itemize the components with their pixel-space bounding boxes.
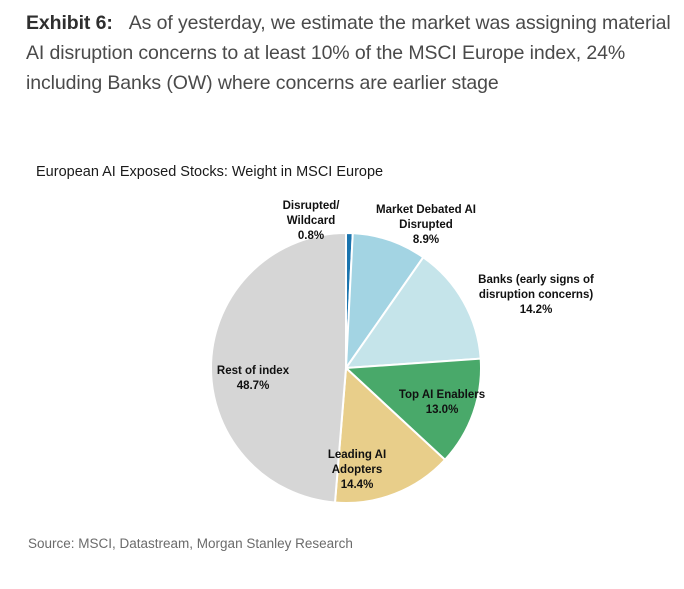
pie-label-market-debated: Market Debated AI Disrupted 8.9% bbox=[356, 188, 496, 263]
exhibit-number: Exhibit 6: bbox=[26, 12, 113, 34]
pie-label-top-ai-enablers-value: 13.0% bbox=[377, 403, 507, 418]
pie-label-leading-adopters: Leading AI Adopters 14.4% bbox=[297, 433, 417, 508]
exhibit-header: Exhibit 6:As of yesterday, we estimate t… bbox=[26, 8, 674, 98]
pie-label-top-ai-enablers: Top AI Enablers 13.0% bbox=[377, 373, 507, 433]
pie-label-rest-of-index: Rest of index 48.7% bbox=[183, 349, 323, 409]
pie-label-banks-name: Banks (early signs of disruption concern… bbox=[478, 274, 594, 301]
pie-label-disrupted-wildcard-name: Disrupted/ Wildcard bbox=[283, 200, 340, 227]
pie-label-top-ai-enablers-name: Top AI Enablers bbox=[399, 389, 485, 401]
pie-label-leading-adopters-name: Leading AI Adopters bbox=[328, 449, 386, 476]
pie-label-market-debated-name: Market Debated AI Disrupted bbox=[376, 204, 476, 231]
pie-label-disrupted-wildcard-value: 0.8% bbox=[255, 229, 367, 244]
source-line: Source: MSCI, Datastream, Morgan Stanley… bbox=[28, 536, 353, 551]
pie-label-rest-of-index-name: Rest of index bbox=[217, 365, 289, 377]
pie-label-banks-value: 14.2% bbox=[452, 303, 620, 318]
pie-label-banks: Banks (early signs of disruption concern… bbox=[452, 258, 620, 333]
exhibit-headline: As of yesterday, we estimate the market … bbox=[26, 12, 671, 94]
pie-label-rest-of-index-value: 48.7% bbox=[183, 379, 323, 394]
pie-label-leading-adopters-value: 14.4% bbox=[297, 478, 417, 493]
pie-label-disrupted-wildcard: Disrupted/ Wildcard 0.8% bbox=[255, 184, 367, 259]
pie-label-market-debated-value: 8.9% bbox=[356, 233, 496, 248]
pie-chart-figure: European AI Exposed Stocks: Weight in MS… bbox=[0, 150, 684, 525]
